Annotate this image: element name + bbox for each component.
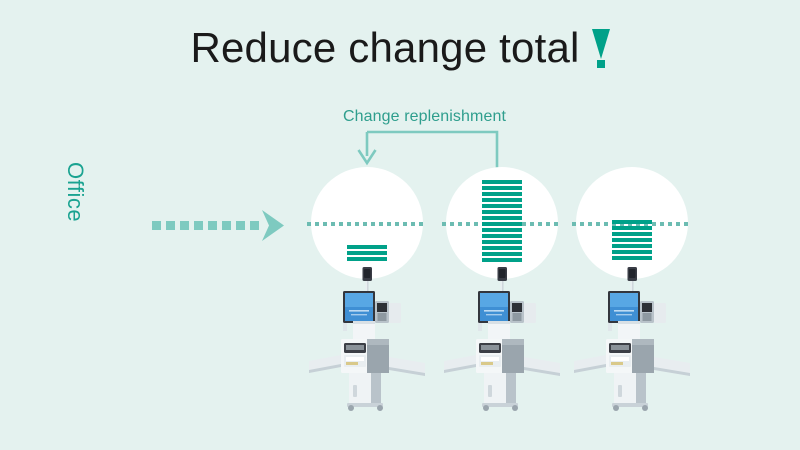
- cash-bar: [482, 234, 522, 238]
- title-row: Reduce change total: [0, 24, 800, 72]
- cash-bar: [482, 258, 522, 262]
- change-replenishment-label: Change replenishment: [343, 108, 506, 126]
- exclamation-mark-icon: [592, 27, 610, 69]
- cash-bar: [482, 192, 522, 196]
- cash-bar: [482, 186, 522, 190]
- cash-bar: [482, 180, 522, 184]
- cash-bar: [482, 222, 522, 226]
- cash-bar: [482, 240, 522, 244]
- cash-bar: [482, 210, 522, 214]
- scene-register-low-change: [311, 167, 423, 427]
- exclamation-stem: [592, 29, 610, 59]
- office-label: Office: [42, 162, 88, 262]
- cash-bar: [612, 250, 652, 254]
- cash-bar: [612, 226, 652, 230]
- cash-bar: [482, 204, 522, 208]
- cash-bar: [612, 238, 652, 242]
- dotted-threshold-line: [307, 222, 427, 226]
- cash-bar: [347, 251, 387, 255]
- cash-bar: [612, 244, 652, 248]
- cash-bar: [482, 228, 522, 232]
- dashed-right-arrow-icon: [152, 208, 284, 242]
- cash-bar: [482, 252, 522, 256]
- cash-stack: [612, 220, 652, 260]
- self-checkout-kiosk: [570, 263, 694, 413]
- cash-bar: [482, 198, 522, 202]
- cash-bar: [482, 246, 522, 250]
- cash-bar: [612, 256, 652, 260]
- cash-bar: [612, 232, 652, 236]
- cash-bar: [347, 257, 387, 261]
- cash-bar: [612, 220, 652, 224]
- slide-canvas: Reduce change total Change replenishment…: [0, 0, 800, 450]
- scene-register-high-change: [446, 167, 558, 427]
- page-title: Reduce change total: [190, 24, 579, 72]
- bracket-down-arrow-icon: [355, 130, 515, 172]
- cash-bar: [482, 216, 522, 220]
- exclamation-dot: [597, 60, 605, 68]
- cash-stack: [482, 180, 522, 262]
- self-checkout-kiosk: [305, 263, 429, 413]
- self-checkout-kiosk: [440, 263, 564, 413]
- scene-register-threshold-change: [576, 167, 688, 427]
- cash-bar: [347, 245, 387, 249]
- cash-stack: [347, 245, 387, 261]
